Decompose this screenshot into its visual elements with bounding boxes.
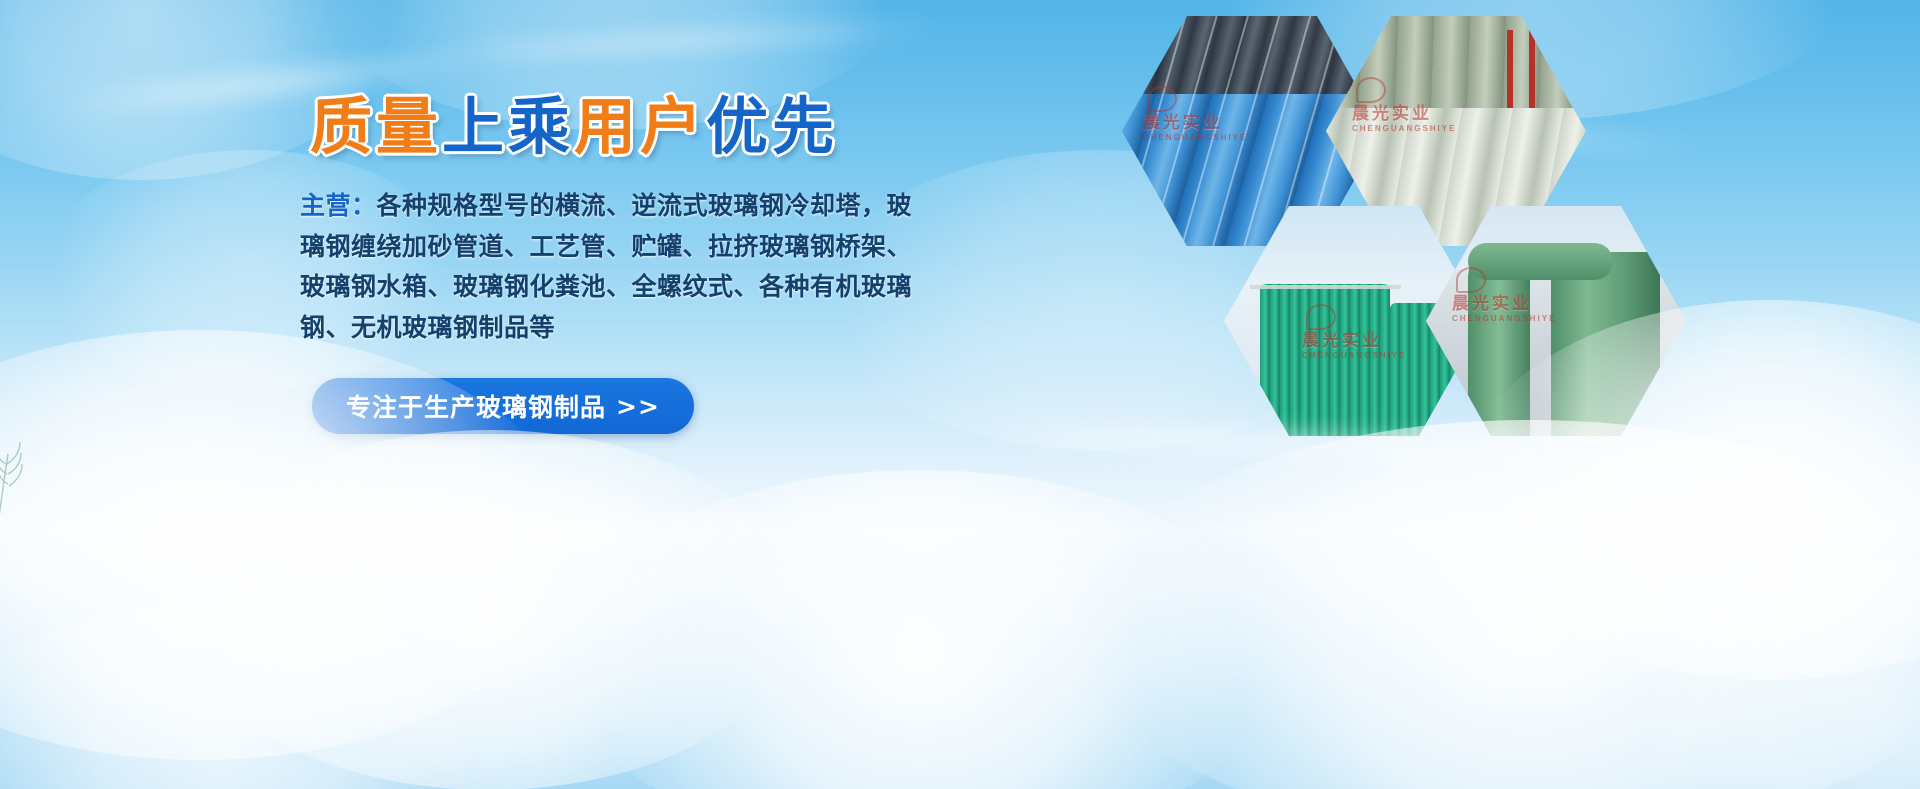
cloud-decoration	[1620, 560, 1920, 789]
scrubber-duct-horizontal	[1468, 243, 1614, 280]
cloud-decoration	[1080, 420, 1920, 789]
headline-segment-superior: 上乘	[442, 93, 574, 162]
cloud-decoration	[180, 430, 800, 789]
headline-segment-quality: 质量	[310, 93, 442, 162]
tower-railing	[1250, 285, 1401, 289]
banner-text-column: 质量上乘用户优先 主营：各种规格型号的横流、逆流式玻璃钢冷却塔，玻璃钢缠绕加砂管…	[300, 95, 940, 434]
chevron-right-icon: >>	[616, 392, 660, 421]
scrubber-tank	[1551, 252, 1660, 436]
banner-description: 主营：各种规格型号的横流、逆流式玻璃钢冷却塔，玻璃钢缠绕加砂管道、工艺管、贮罐、…	[300, 186, 920, 348]
cooling-tower-primary	[1260, 284, 1390, 436]
cta-button[interactable]: 专注于生产玻璃钢制品 >>	[312, 378, 694, 434]
cloud-decoration	[560, 470, 1280, 789]
description-label: 主营：	[300, 192, 377, 220]
cloud-streak	[420, 16, 940, 65]
product-photo-collage: 晨光实业 CHENGUANGSHIYE 晨光实业 CHENGUANGSHIYE …	[1130, 10, 1770, 430]
cloud-decoration	[0, 600, 500, 789]
banner-headline: 质量上乘用户优先	[310, 95, 940, 160]
promo-banner: 质量上乘用户优先 主营：各种规格型号的横流、逆流式玻璃钢冷却塔，玻璃钢缠绕加砂管…	[0, 0, 1920, 789]
palm-frond-icon	[0, 420, 54, 540]
headline-segment-user: 用户	[574, 93, 706, 162]
cloud-streak	[120, 514, 820, 560]
cta-button-label: 专注于生产玻璃钢制品	[346, 388, 606, 424]
headline-segment-priority: 优先	[706, 93, 838, 162]
